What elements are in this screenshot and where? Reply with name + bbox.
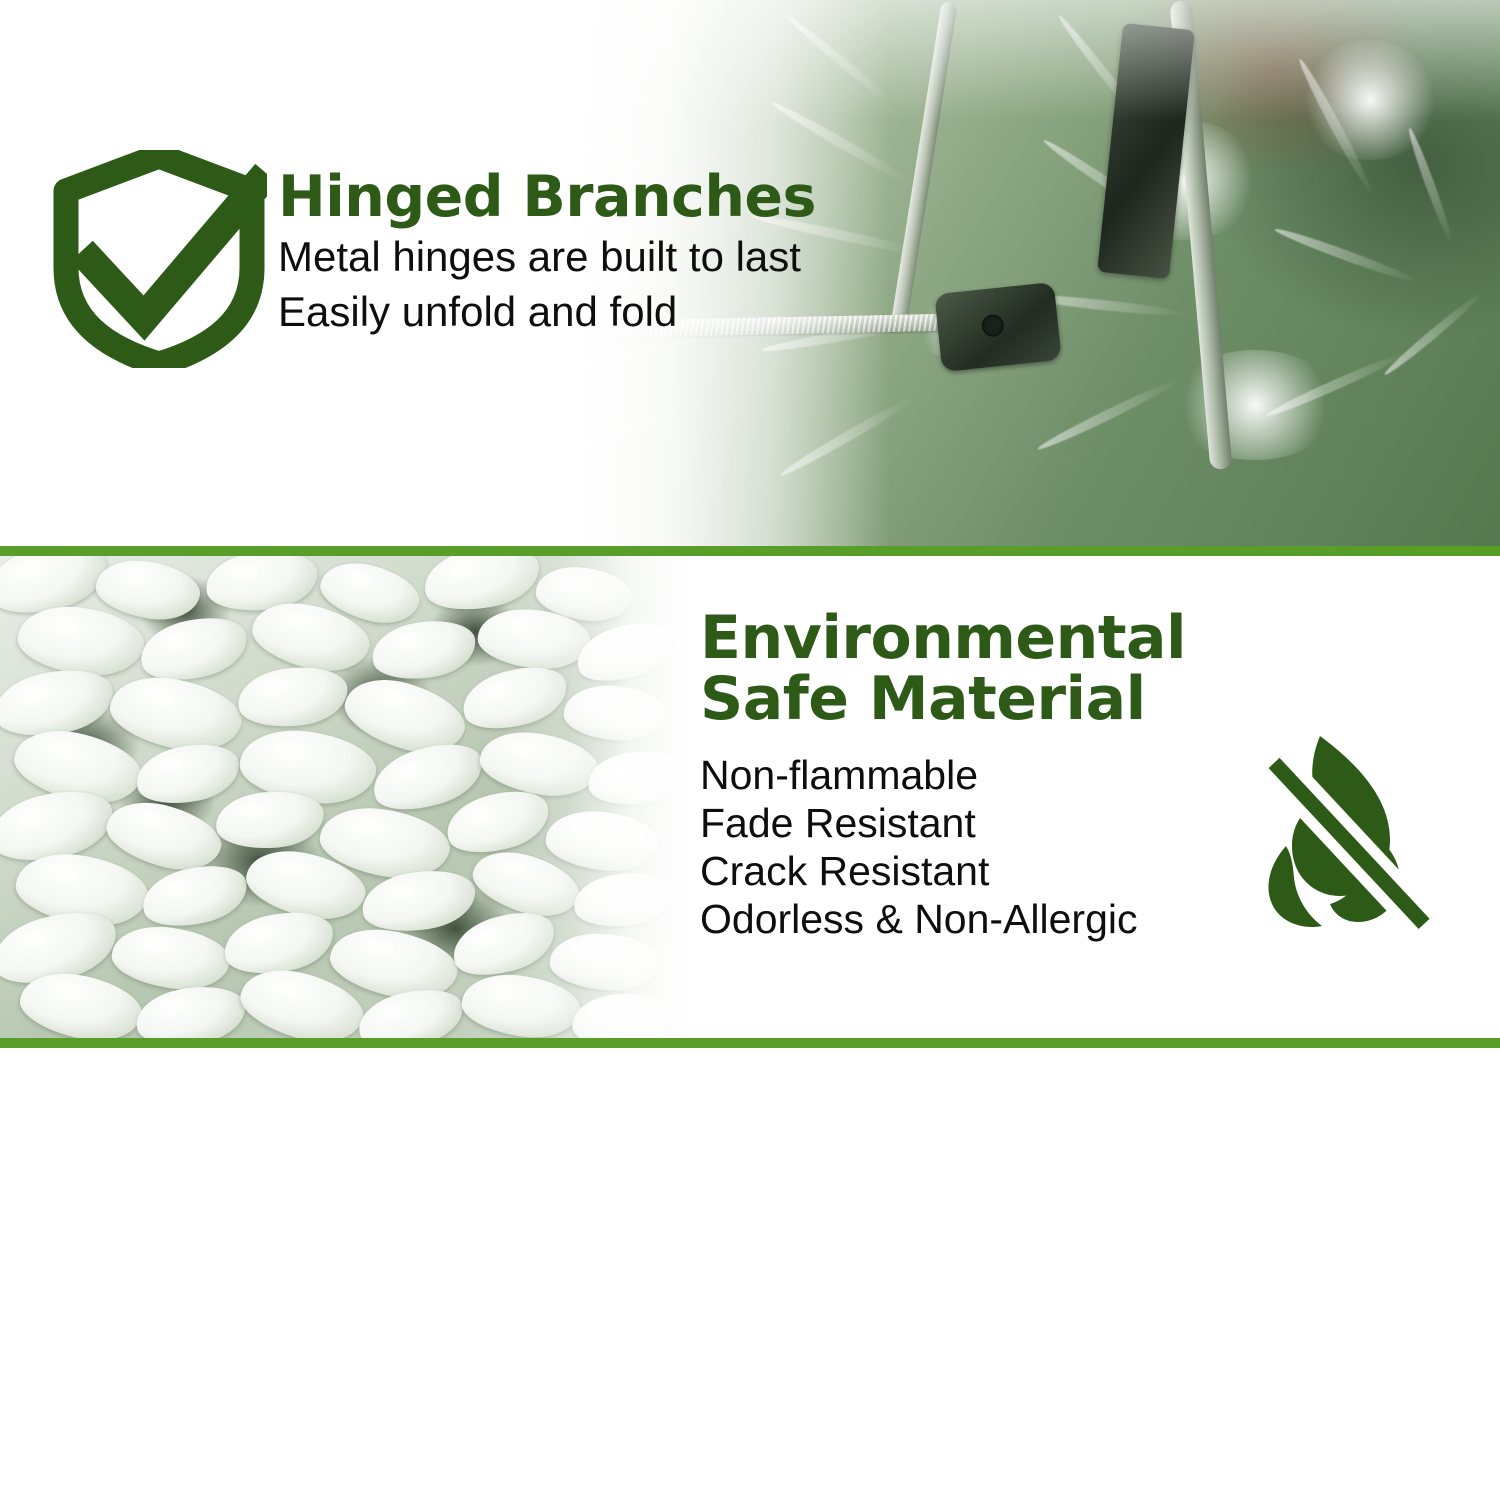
- panel-heading-material-line1: Environmental: [700, 608, 1186, 669]
- section-divider: [0, 546, 1500, 556]
- hinged-text-block: Hinged Branches Metal hinges are built t…: [278, 168, 816, 335]
- feature-item: Odorless & Non-Allergic: [700, 896, 1186, 944]
- no-flame-icon: [1248, 728, 1433, 933]
- panel-sturdy-metal-base: Sturdy Metal Base Metal stand can suppor…: [0, 1048, 1500, 1500]
- metal-hinge-joint: [934, 282, 1061, 372]
- flocked-branches-photo: [0, 556, 688, 1038]
- product-feature-infographic: Hinged Branches Metal hinges are built t…: [0, 0, 1500, 1500]
- frost-patch: [1170, 350, 1340, 460]
- section-divider: [0, 1038, 1500, 1048]
- feature-item: Fade Resistant: [700, 800, 1186, 848]
- panel-body-line: Easily unfold and fold: [278, 289, 816, 336]
- material-feature-list: Non-flammable Fade Resistant Crack Resis…: [700, 752, 1186, 944]
- panel-heading-material-line2: Safe Material: [700, 669, 1186, 730]
- feature-item: Crack Resistant: [700, 848, 1186, 896]
- shield-check-icon: [52, 150, 267, 368]
- panel-heading-hinged: Hinged Branches: [278, 168, 816, 226]
- material-text-block: Environmental Safe Material Non-flammabl…: [700, 608, 1186, 944]
- panel-hinged-branches: Hinged Branches Metal hinges are built t…: [0, 0, 1500, 546]
- feature-item: Non-flammable: [700, 752, 1186, 800]
- panel-body-line: Metal hinges are built to last: [278, 234, 816, 281]
- photo-right-fade: [498, 556, 688, 1038]
